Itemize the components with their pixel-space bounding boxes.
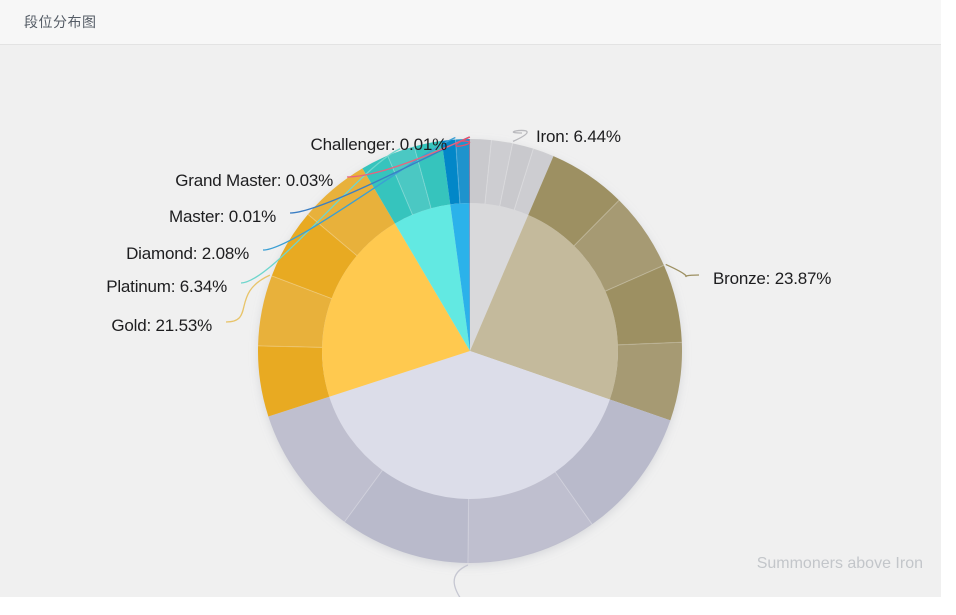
card-header: 段位分布图 [0,0,941,45]
slice-label-diamond: Diamond: 2.08% [126,244,249,264]
rank-distribution-card: 段位分布图 Iron: 6.44%Bronze: 23.87%Silver: 3… [0,0,941,597]
pie-subdivision-line [468,499,469,563]
bottom-margin [0,597,956,615]
chart-page: 段位分布图 Iron: 6.44%Bronze: 23.87%Silver: 3… [0,0,956,615]
slice-label-platinum: Platinum: 6.34% [106,277,227,297]
slice-label-gold: Gold: 21.53% [111,316,212,336]
slice-label-iron: Iron: 6.44% [536,127,621,147]
slice-label-grand-master: Grand Master: 0.03% [175,171,333,191]
leader-line-bronze [666,264,699,276]
slice-label-challenger: Challenger: 0.01% [311,135,447,155]
leader-line-silver [454,565,469,597]
slice-label-bronze: Bronze: 23.87% [713,269,831,289]
right-margin [941,0,956,615]
chart-watermark: Summoners above Iron [757,555,923,573]
slice-label-master: Master: 0.01% [169,207,276,227]
leader-line-iron [513,130,527,141]
page-title: 段位分布图 [24,12,97,32]
chart-area: Iron: 6.44%Bronze: 23.87%Silver: 39.7%Go… [0,46,941,597]
